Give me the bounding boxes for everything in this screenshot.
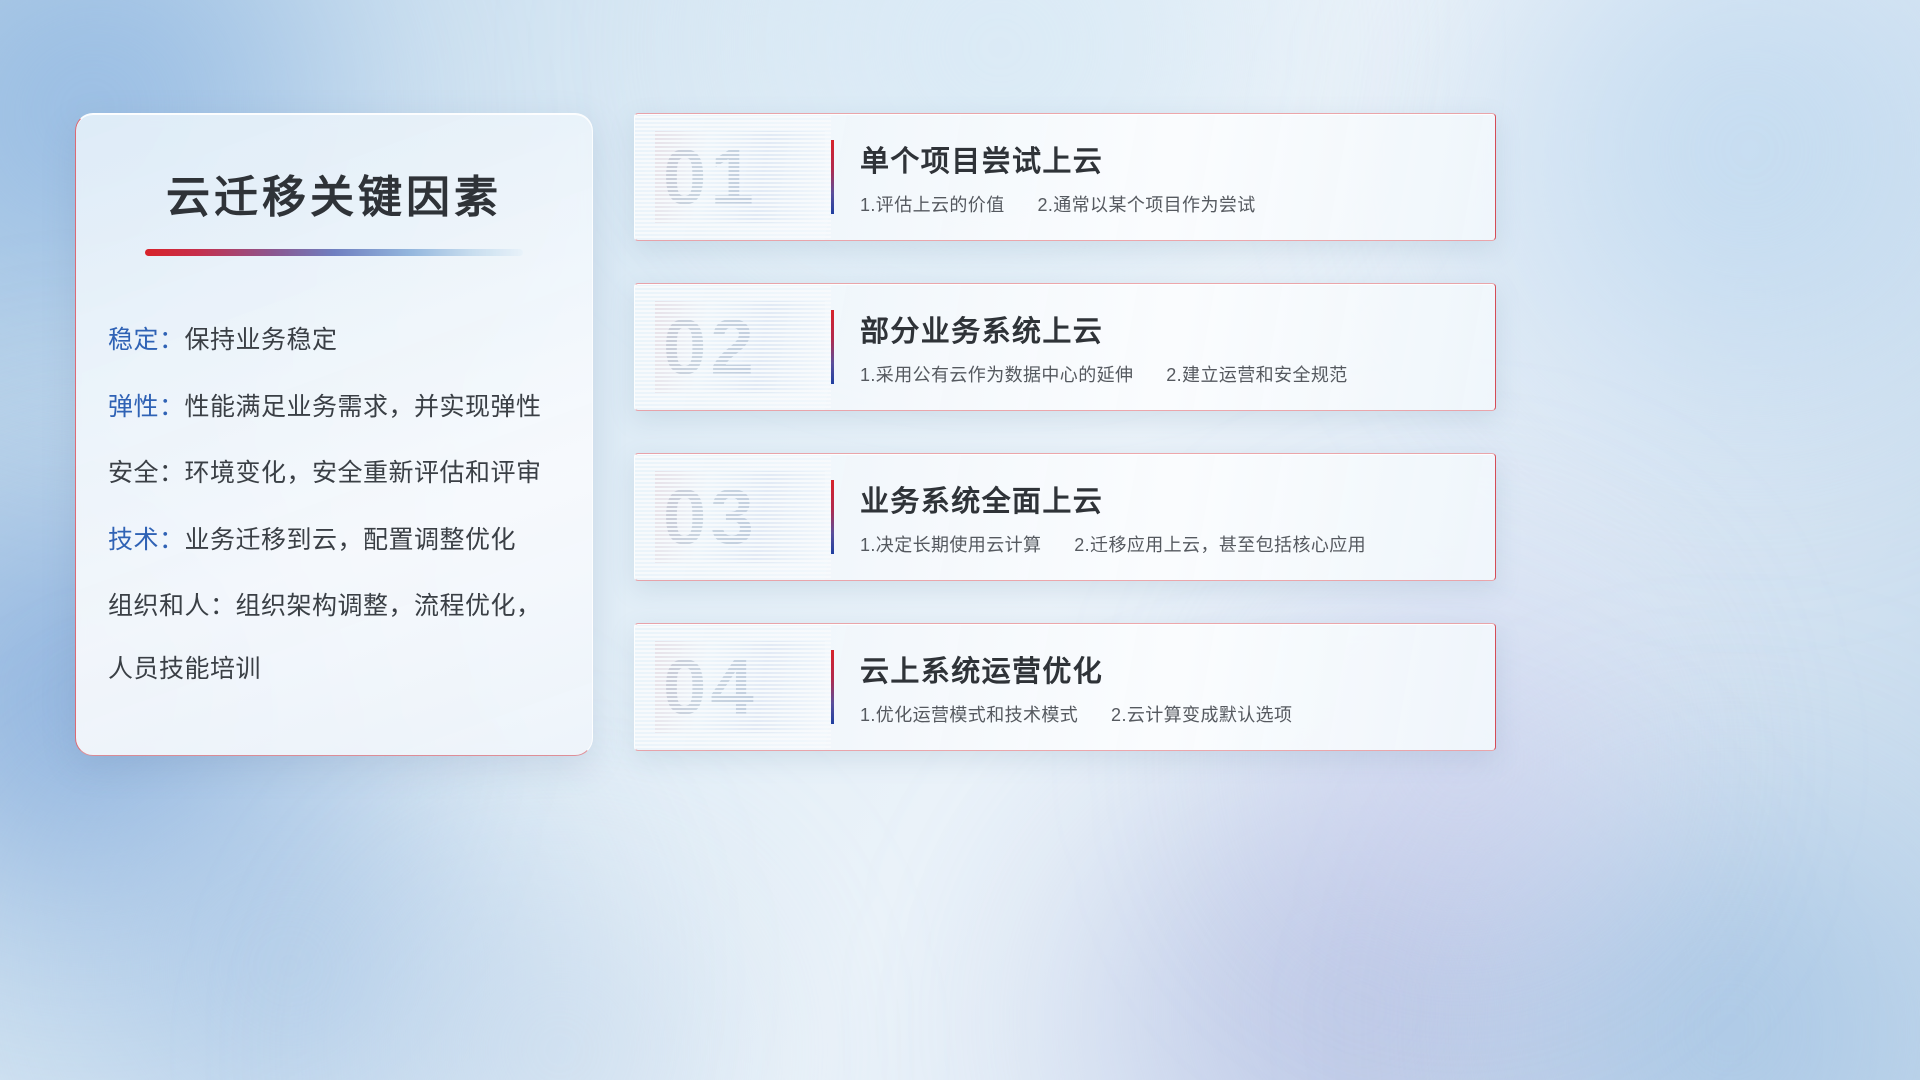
stage-subtitle-part-2: 2.建立运营和安全规范 (1166, 365, 1347, 385)
stage-number: 01 (635, 114, 831, 240)
list-item: 组织和人：组织架构调整，流程优化， 人员技能培训 (108, 590, 592, 685)
stage-subtitle: 1.决定长期使用云计算 2.迁移应用上云，甚至包括核心应用 (860, 531, 1471, 557)
list-item: 稳定：保持业务稳定 (108, 324, 592, 357)
stage-card-02[interactable]: 02 部分业务系统上云 1.采用公有云作为数据中心的延伸 2.建立运营和安全规范 (634, 283, 1496, 411)
stage-subtitle-part-1: 1.评估上云的价值 (860, 195, 1005, 215)
stage-title: 单个项目尝试上云 (860, 138, 1471, 180)
stage-card-body: 业务系统全面上云 1.决定长期使用云计算 2.迁移应用上云，甚至包括核心应用 (860, 478, 1495, 557)
stage-subtitle: 1.评估上云的价值 2.通常以某个项目作为尝试 (860, 191, 1471, 217)
stage-number-glyph: 01 (663, 132, 758, 223)
stage-card-body: 单个项目尝试上云 1.评估上云的价值 2.通常以某个项目作为尝试 (860, 138, 1495, 217)
factor-text: 保持业务稳定 (185, 326, 338, 354)
factor-text-line2: 人员技能培训 (108, 653, 592, 686)
stage-title: 业务系统全面上云 (860, 478, 1471, 520)
stage-subtitle-part-1: 1.采用公有云作为数据中心的延伸 (860, 365, 1133, 385)
stage-number: 04 (635, 624, 831, 750)
list-item: 弹性：性能满足业务需求，并实现弹性 (108, 391, 592, 424)
stage-subtitle-part-2: 2.云计算变成默认选项 (1111, 705, 1292, 725)
factor-label: 稳定： (108, 326, 185, 354)
stage-title: 云上系统运营优化 (860, 648, 1471, 690)
factor-text: 性能满足业务需求，并实现弹性 (185, 393, 542, 421)
factor-label: 弹性： (108, 393, 185, 421)
stage-subtitle-part-2: 2.迁移应用上云，甚至包括核心应用 (1074, 535, 1366, 555)
factor-text: 业务迁移到云，配置调整优化 (185, 526, 517, 554)
stage-number: 02 (635, 284, 831, 410)
title-underline-rule (145, 249, 523, 256)
stage-number-glyph: 02 (663, 302, 758, 393)
page-title: 云迁移关键因素 (76, 161, 592, 225)
stage-number: 03 (635, 454, 831, 580)
factor-text: 环境变化，安全重新评估和评审 (185, 459, 542, 487)
list-item: 技术：业务迁移到云，配置调整优化 (108, 524, 592, 557)
stage-title: 部分业务系统上云 (860, 308, 1471, 350)
factor-text: 组织架构调整，流程优化， (236, 592, 542, 620)
stage-subtitle: 1.采用公有云作为数据中心的延伸 2.建立运营和安全规范 (860, 361, 1471, 387)
stage-card-04[interactable]: 04 云上系统运营优化 1.优化运营模式和技术模式 2.云计算变成默认选项 (634, 623, 1496, 751)
stage-subtitle-part-2: 2.通常以某个项目作为尝试 (1037, 195, 1255, 215)
accent-bar (831, 480, 834, 554)
stage-card-01[interactable]: 01 单个项目尝试上云 1.评估上云的价值 2.通常以某个项目作为尝试 (634, 113, 1496, 241)
stage-subtitle: 1.优化运营模式和技术模式 2.云计算变成默认选项 (860, 701, 1471, 727)
stage-card-body: 部分业务系统上云 1.采用公有云作为数据中心的延伸 2.建立运营和安全规范 (860, 308, 1495, 387)
key-factors-panel: 云迁移关键因素 稳定：保持业务稳定 弹性：性能满足业务需求，并实现弹性 安全：环… (75, 113, 593, 756)
stage-card-03[interactable]: 03 业务系统全面上云 1.决定长期使用云计算 2.迁移应用上云，甚至包括核心应… (634, 453, 1496, 581)
accent-bar (831, 140, 834, 214)
stage-card-body: 云上系统运营优化 1.优化运营模式和技术模式 2.云计算变成默认选项 (860, 648, 1495, 727)
accent-bar (831, 650, 834, 724)
stage-number-glyph: 04 (663, 642, 758, 733)
factor-label: 组织和人： (108, 592, 236, 620)
accent-bar (831, 310, 834, 384)
stage-number-glyph: 03 (663, 472, 758, 563)
factor-label: 技术： (108, 526, 185, 554)
factor-label: 安全： (108, 459, 185, 487)
stage-subtitle-part-1: 1.决定长期使用云计算 (860, 535, 1041, 555)
stage-card-list: 01 单个项目尝试上云 1.评估上云的价值 2.通常以某个项目作为尝试 02 部… (634, 113, 1496, 751)
stage-subtitle-part-1: 1.优化运营模式和技术模式 (860, 705, 1078, 725)
factor-list: 稳定：保持业务稳定 弹性：性能满足业务需求，并实现弹性 安全：环境变化，安全重新… (76, 324, 592, 685)
list-item: 安全：环境变化，安全重新评估和评审 (108, 457, 592, 490)
